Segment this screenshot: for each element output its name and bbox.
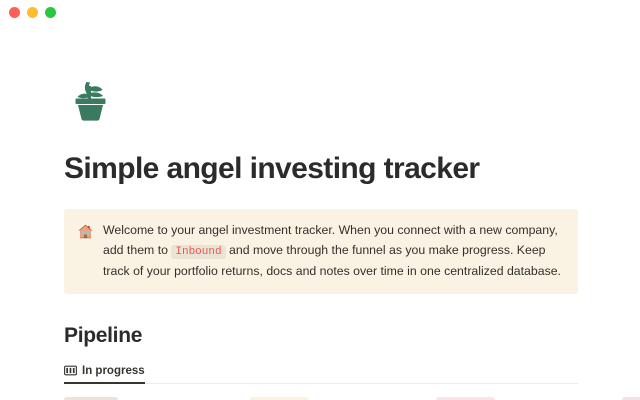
view-tabbar: In progress <box>64 362 578 384</box>
inbound-code-chip: Inbound <box>171 245 225 259</box>
tab-label: In progress <box>82 365 145 377</box>
maximize-window-button[interactable] <box>45 7 56 18</box>
pipeline-heading: Pipeline <box>64 324 640 348</box>
page-body: Simple angel investing tracker Welcome t… <box>0 72 640 384</box>
page-title: Simple angel investing tracker <box>64 152 640 187</box>
tab-in-progress[interactable]: In progress <box>64 362 145 384</box>
callout-text: Welcome to your angel investment tracker… <box>103 221 564 282</box>
board-view-icon <box>64 364 77 377</box>
minimize-window-button[interactable] <box>27 7 38 18</box>
window-controls <box>9 7 56 18</box>
window-titlebar <box>0 0 640 24</box>
potted-plant-icon[interactable] <box>64 72 118 126</box>
close-window-button[interactable] <box>9 7 20 18</box>
house-icon <box>77 223 94 240</box>
welcome-callout: Welcome to your angel investment tracker… <box>64 209 578 295</box>
